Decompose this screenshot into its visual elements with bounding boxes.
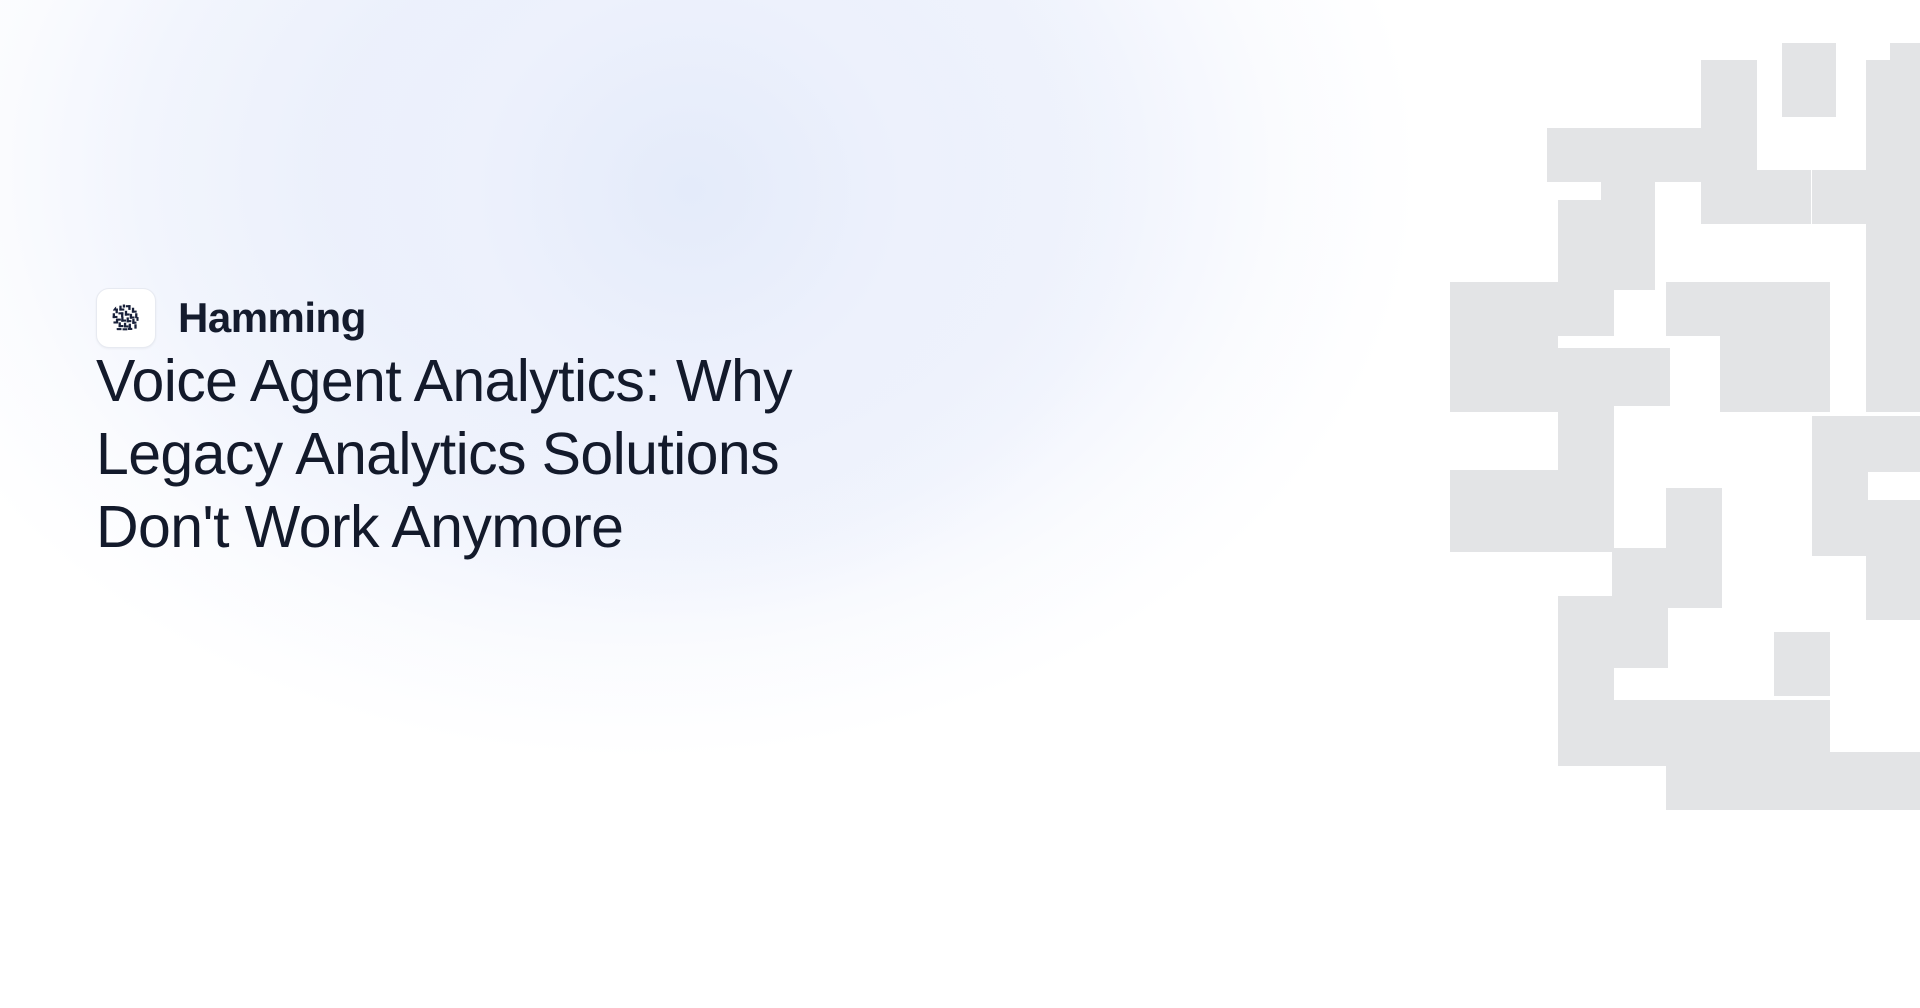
hamming-maze-logo-icon (107, 299, 145, 337)
page-title-line-1: Voice Agent Analytics: Why (96, 345, 976, 418)
logo-container (96, 288, 156, 348)
brand-row: Hamming (96, 288, 366, 348)
page-title-line-2: Legacy Analytics Solutions (96, 418, 976, 491)
page-title-line-3: Don't Work Anymore (96, 491, 976, 564)
tetromino-grid-pattern (1150, 0, 1920, 820)
og-card: Hamming Voice Agent Analytics: Why Legac… (0, 0, 1920, 1008)
page-title: Voice Agent Analytics: Why Legacy Analyt… (96, 345, 976, 564)
l-block-pattern-icon (1450, 43, 1920, 810)
brand-name: Hamming (178, 297, 366, 339)
